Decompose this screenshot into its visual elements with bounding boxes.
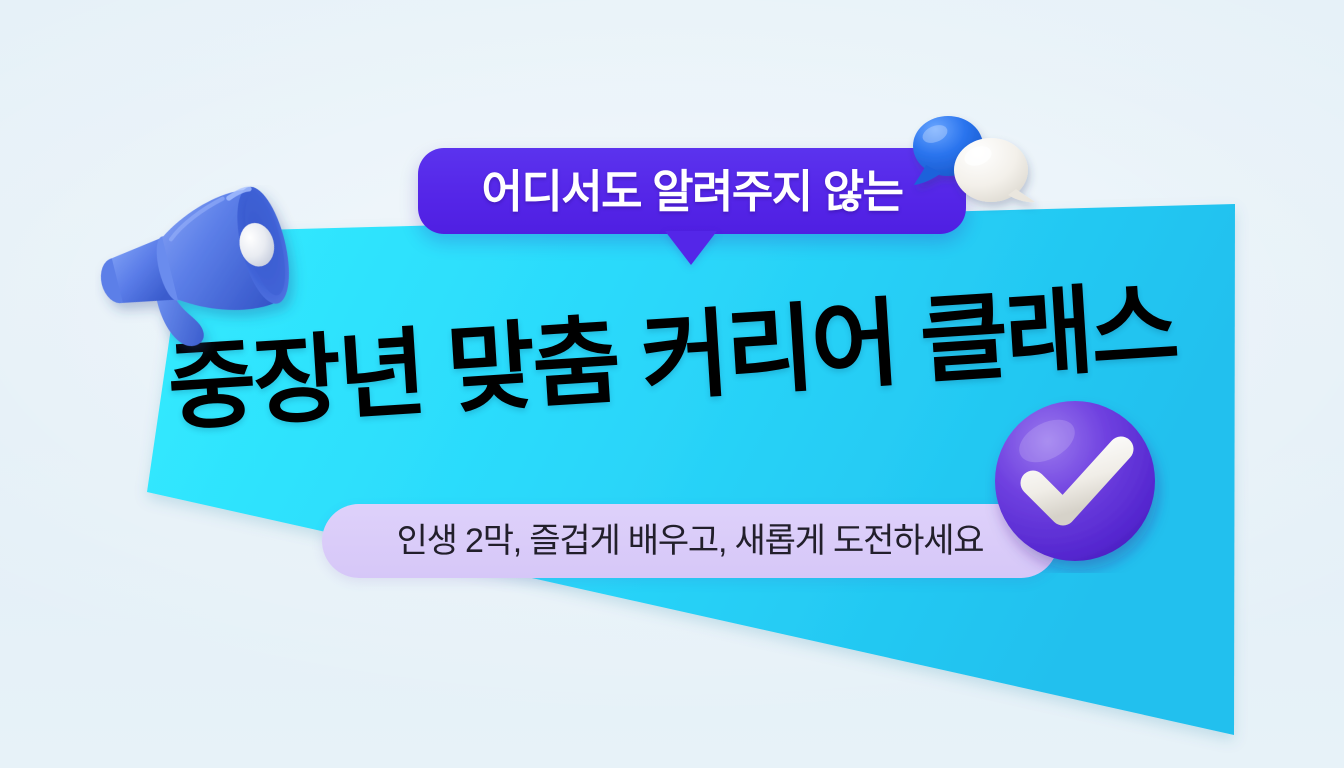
eyebrow-badge-tail <box>665 231 717 265</box>
subtitle-text: 인생 2막, 즐겁게 배우고, 새롭게 도전하세요 <box>397 524 984 558</box>
headline-text: 중장년 맞춤 커리어 클래스 <box>165 278 1179 437</box>
eyebrow-badge-label: 어디서도 알려주지 않는 <box>481 169 902 214</box>
background-wash <box>0 0 1344 768</box>
promo-banner: 어디서도 알려주지 않는 중장년 맞춤 커리어 클래스 인생 2막, 즐겁게 배… <box>0 0 1344 768</box>
eyebrow-badge: 어디서도 알려주지 않는 <box>418 148 966 234</box>
headline-container: 중장년 맞춤 커리어 클래스 <box>0 246 1344 470</box>
megaphone-3d-icon <box>95 185 310 370</box>
cyan-slanted-band <box>0 0 1344 768</box>
subtitle-pill: 인생 2막, 즐겁게 배우고, 새롭게 도전하세요 <box>322 504 1058 578</box>
